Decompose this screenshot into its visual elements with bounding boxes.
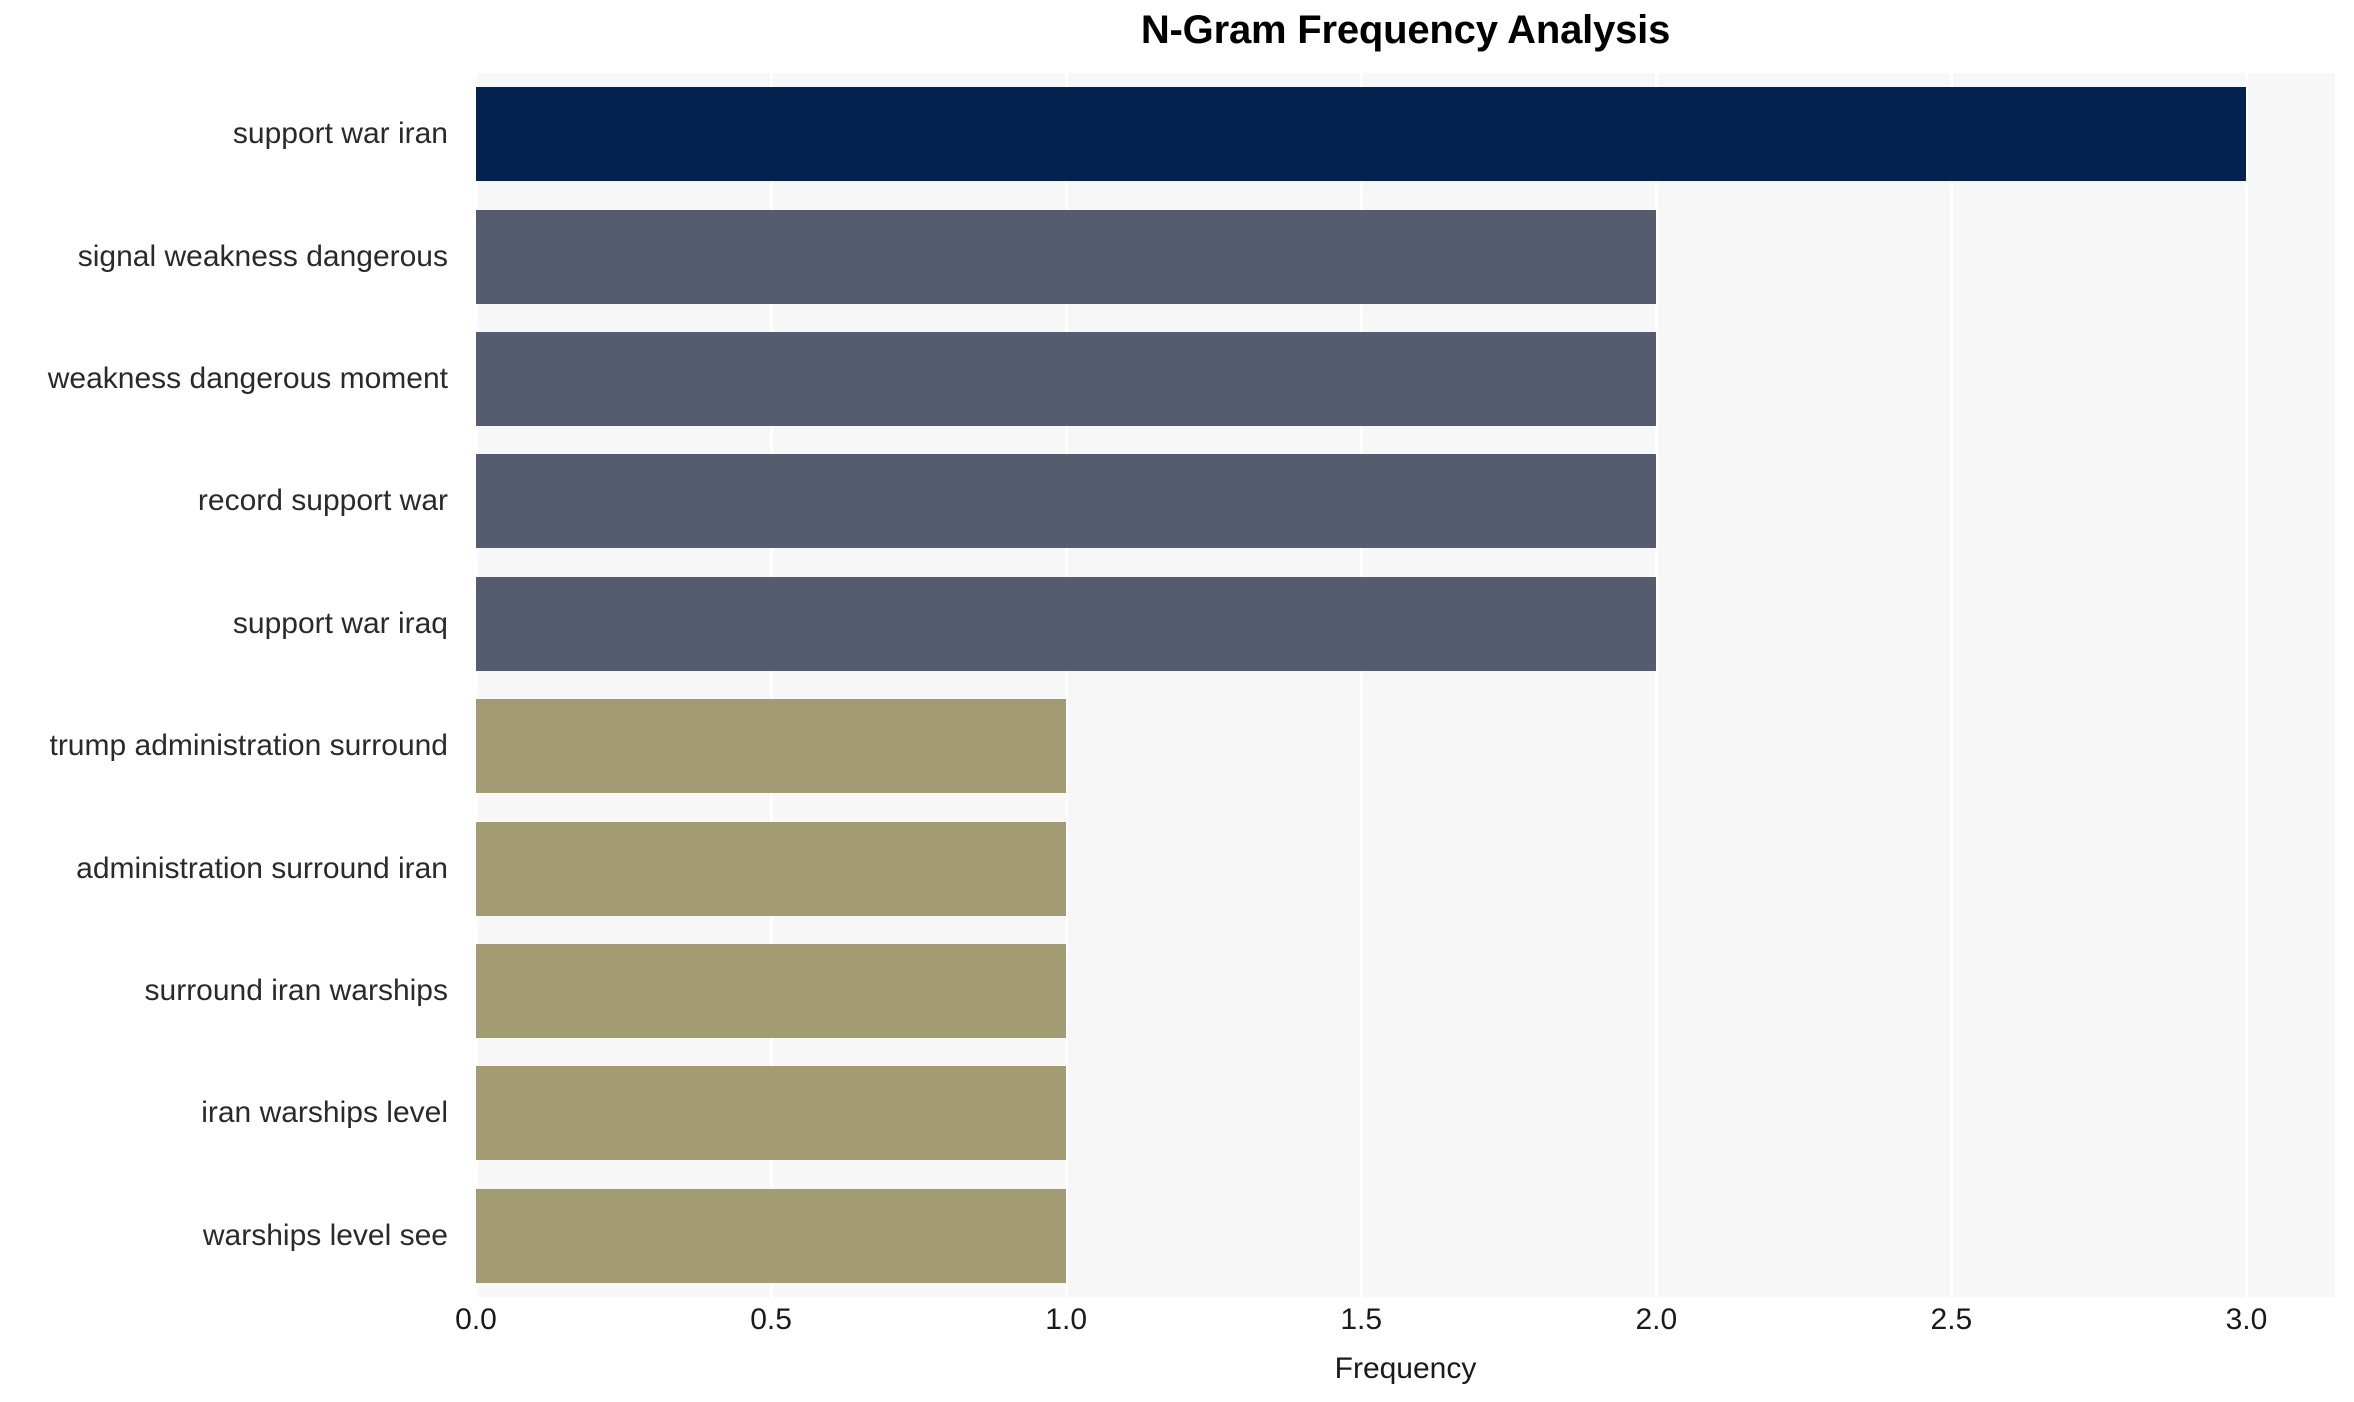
x-tick-label: 0.5 [750,1303,792,1337]
y-tick-label: iran warships level [8,1096,448,1130]
y-tick-label: surround iran warships [8,974,448,1008]
bar [476,210,1656,304]
x-axis: 0.00.51.01.52.02.53.0 [476,1303,2335,1351]
bar [476,1189,1066,1283]
y-axis: support war iransignal weakness dangerou… [0,73,462,1297]
y-tick-label: trump administration surround [8,729,448,763]
y-tick-label: record support war [8,484,448,518]
bar [476,699,1066,793]
bar [476,577,1656,671]
chart-figure: N-Gram Frequency Analysis support war ir… [0,0,2354,1402]
x-tick-label: 0.0 [455,1303,497,1337]
x-tick-label: 1.0 [1045,1303,1087,1337]
y-tick-label: signal weakness dangerous [8,240,448,274]
y-tick-label: warships level see [8,1219,448,1253]
bar [476,822,1066,916]
y-tick-label: support war iran [8,117,448,151]
bar [476,1066,1066,1160]
bar [476,87,2246,181]
x-axis-title: Frequency [476,1352,2335,1386]
x-tick-label: 3.0 [2226,1303,2268,1337]
gridline-vertical [2245,73,2248,1297]
x-tick-label: 2.0 [1635,1303,1677,1337]
chart-title: N-Gram Frequency Analysis [476,2,2335,62]
bar [476,454,1656,548]
bar [476,944,1066,1038]
bar [476,332,1656,426]
y-tick-label: support war iraq [8,607,448,641]
x-tick-label: 1.5 [1340,1303,1382,1337]
y-tick-label: administration surround iran [8,852,448,886]
y-tick-label: weakness dangerous moment [8,362,448,396]
plot-area [476,73,2335,1297]
x-tick-label: 2.5 [1931,1303,1973,1337]
gridline-vertical [1950,73,1953,1297]
